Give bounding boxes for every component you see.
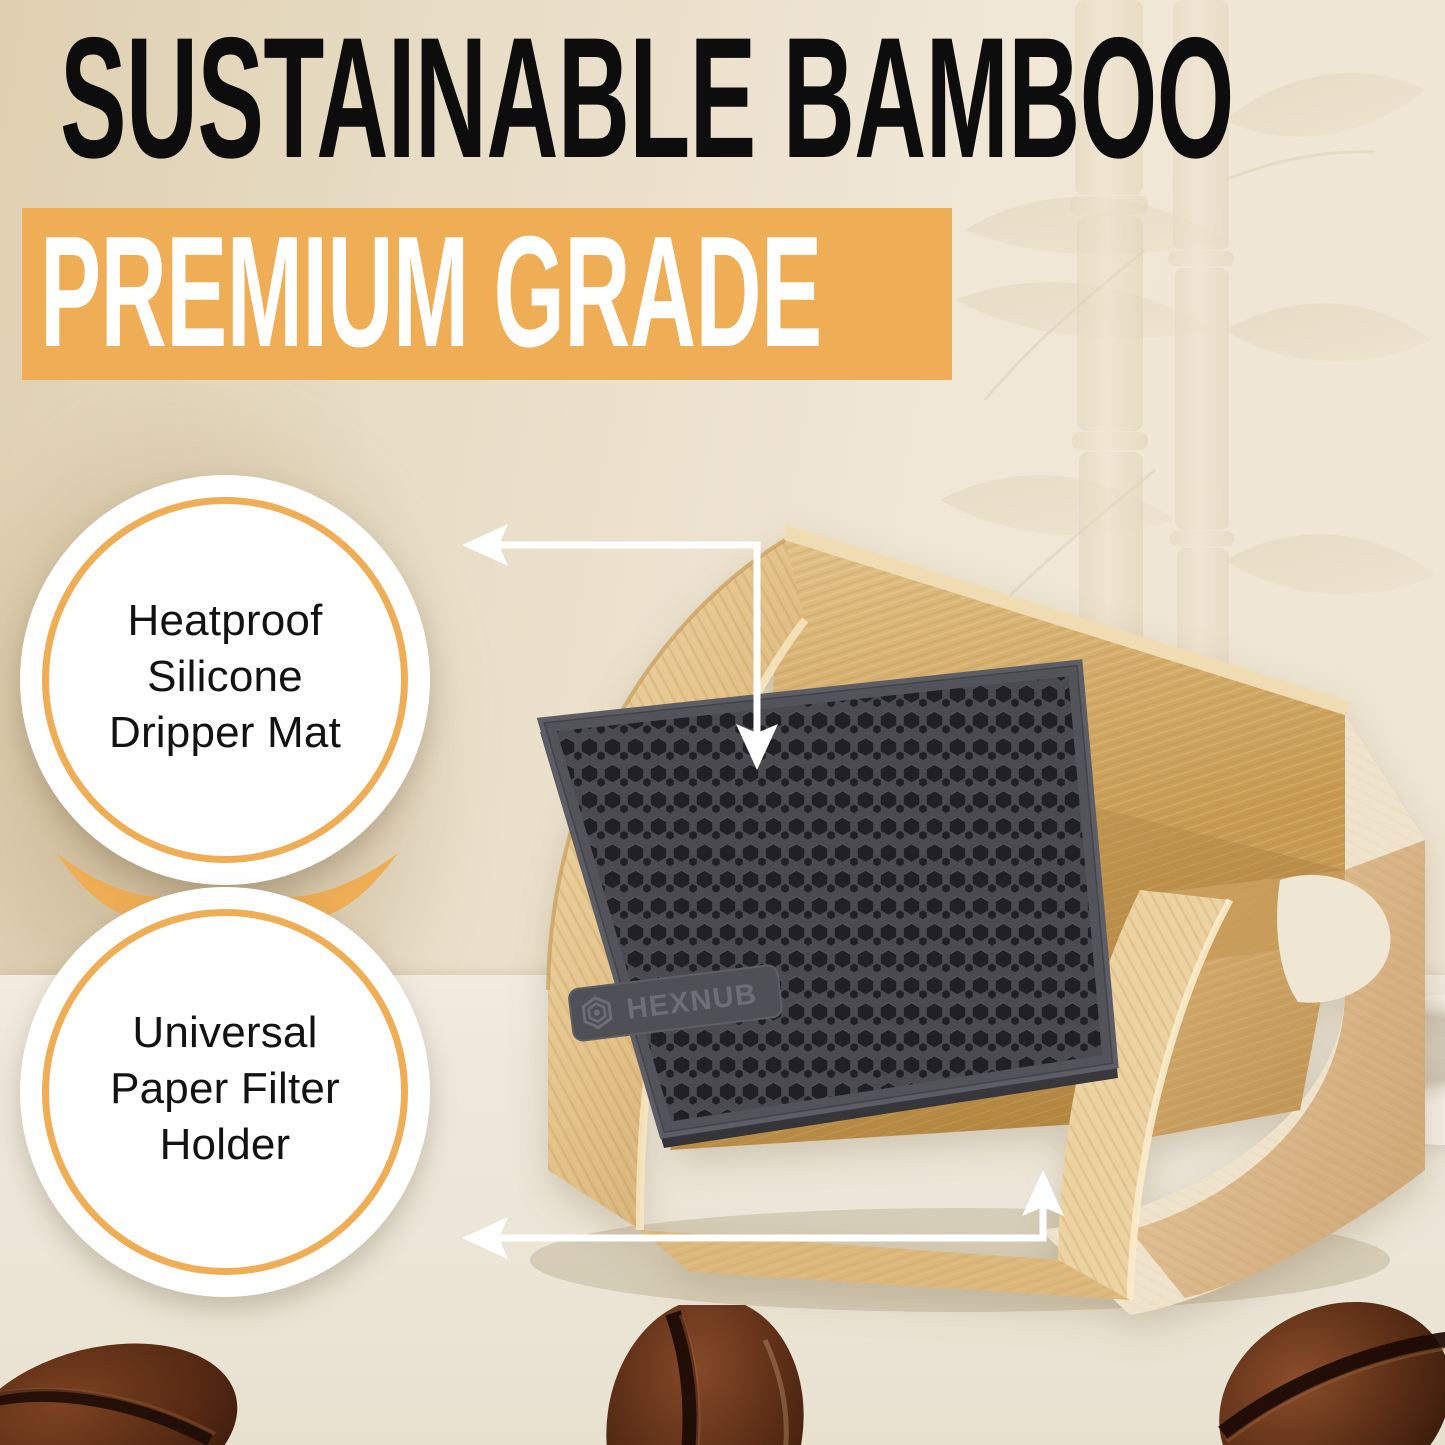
bean-bottom-center <box>555 1305 885 1445</box>
callout-heatproof-silicone-dripper-mat[interactable]: Heatproof Silicone Dripper Mat <box>20 475 430 885</box>
callout-universal-paper-filter-holder[interactable]: Universal Paper Filter Holder <box>20 887 430 1297</box>
product-image-bamboo-dripper-stand: HEXNUB <box>440 470 1445 1300</box>
bean-bottom-right <box>1165 1285 1445 1445</box>
page-title: SUSTAINABLE BAMBOO <box>60 18 831 178</box>
product-infographic: SUSTAINABLE BAMBOO PREMIUM GRADE <box>0 0 1445 1445</box>
callout-group: Heatproof Silicone Dripper Mat Universal… <box>0 455 468 1310</box>
callout-label: Universal Paper Filter Holder <box>20 1005 430 1173</box>
page-subtitle: PREMIUM GRADE <box>40 216 794 368</box>
bean-bottom-left <box>0 1330 250 1445</box>
callout-label: Heatproof Silicone Dripper Mat <box>20 593 430 761</box>
